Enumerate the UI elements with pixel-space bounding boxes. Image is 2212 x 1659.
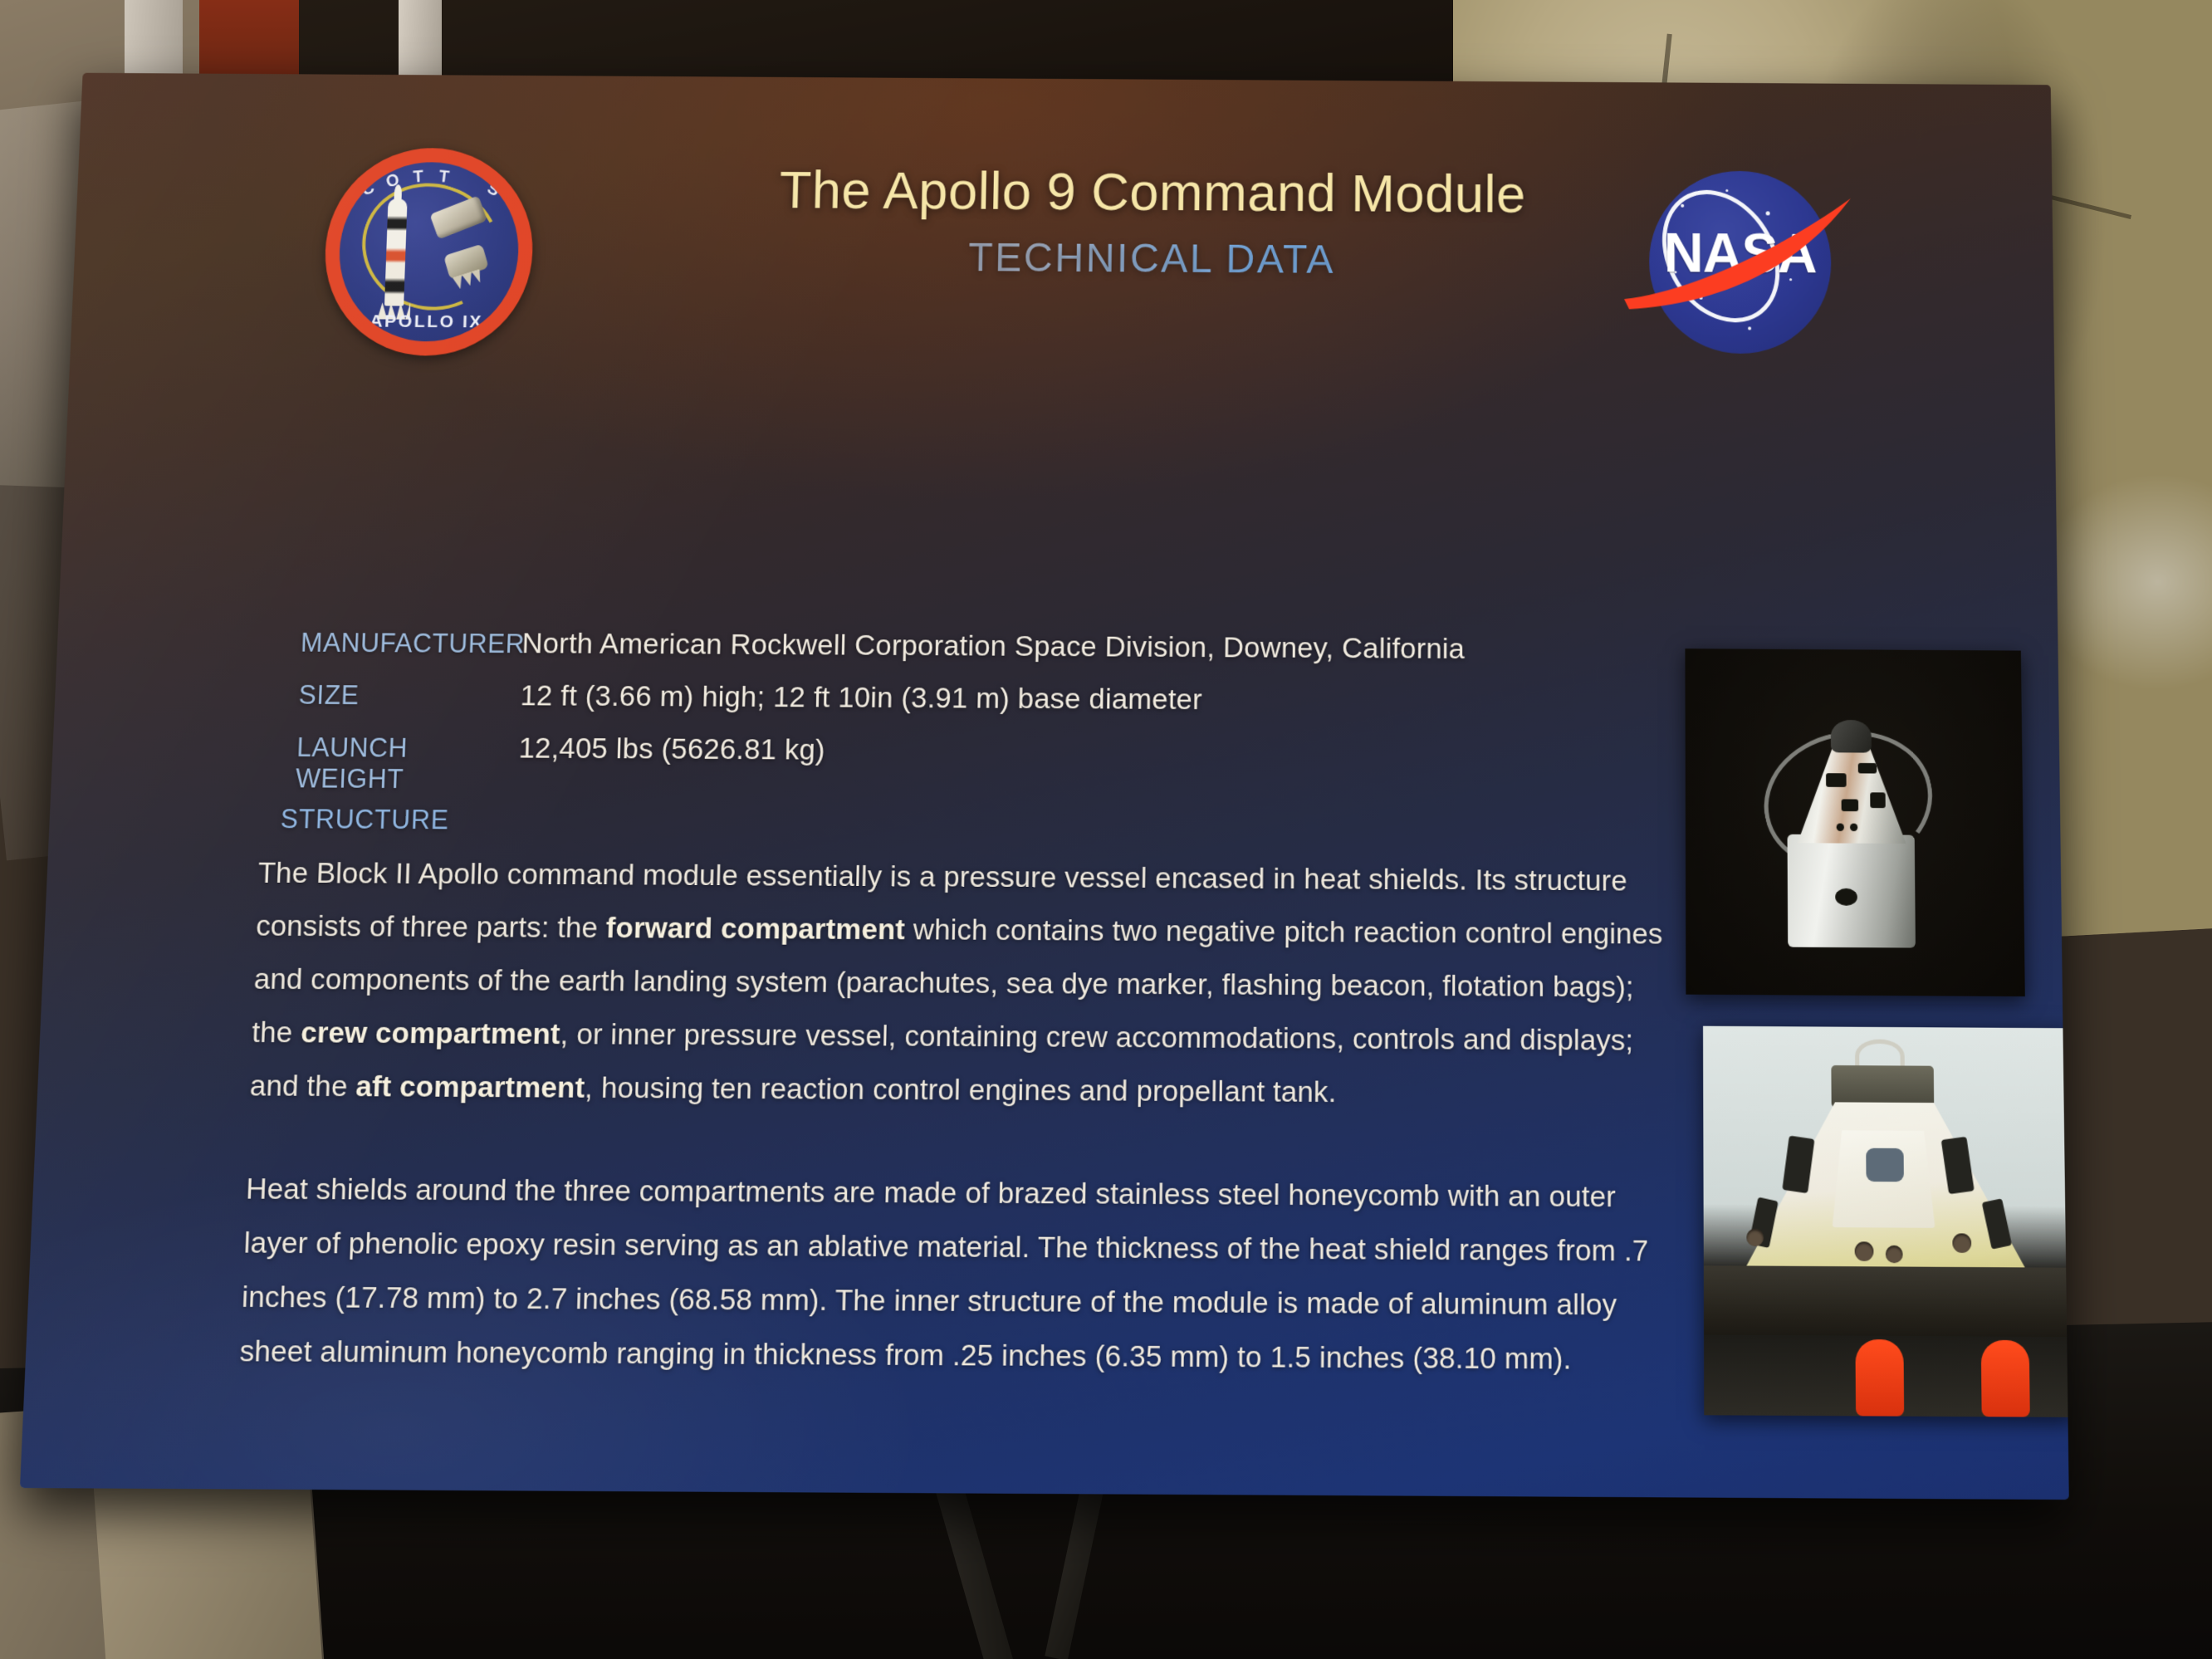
- title-block: The Apollo 9 Command Module TECHNICAL DA…: [709, 159, 1594, 284]
- specifications-list: MANUFACTURER North American Rockwell Cor…: [294, 626, 1652, 821]
- photo-hatch-window: [1866, 1148, 1904, 1182]
- emphasis-aft-compartment: aft compartment: [355, 1069, 585, 1104]
- spec-label-size: SIZE: [298, 680, 521, 712]
- technical-data-placard: McDIVITT SCOTT SCHWEICKART APOLLO IX The…: [20, 73, 2069, 1500]
- photo-thruster-port: [1746, 1229, 1764, 1246]
- placard-header: McDIVITT SCOTT SCHWEICKART APOLLO IX The…: [69, 139, 2055, 403]
- paragraph-heat-shields: Heat shields around the three compartmen…: [238, 1162, 1669, 1387]
- placard-container: McDIVITT SCOTT SCHWEICKART APOLLO IX The…: [46, 73, 2061, 899]
- patch-mission-name: APOLLO IX: [336, 311, 516, 333]
- page-title: The Apollo 9 Command Module: [710, 159, 1593, 225]
- spec-value-manufacturer: North American Rockwell Corporation Spac…: [521, 627, 1465, 666]
- apollo-9-mission-patch-icon: McDIVITT SCOTT SCHWEICKART APOLLO IX: [321, 148, 536, 357]
- structure-heading: STRUCTURE: [280, 804, 449, 836]
- photo-command-service-module-in-orbit: [1685, 648, 2024, 996]
- spec-row: MANUFACTURER North American Rockwell Cor…: [300, 626, 1651, 668]
- spec-value-launch-weight: 12,405 lbs (5626.81 kg): [518, 732, 825, 767]
- photo-thruster-port: [1952, 1233, 1971, 1253]
- emphasis-crew-compartment: crew compartment: [300, 1016, 560, 1051]
- photo-thruster-port: [1855, 1241, 1874, 1261]
- spec-label-manufacturer: MANUFACTURER: [300, 628, 522, 660]
- spec-row: SIZE 12 ft (3.66 m) high; 12 ft 10in (3.…: [298, 678, 1652, 720]
- paragraph-structure: The Block II Apollo command module essen…: [249, 847, 1669, 1122]
- photo-forward-hatch-area: [1831, 1065, 1934, 1108]
- photo-thruster-port: [1886, 1245, 1903, 1263]
- photo-flotation-bag: [1981, 1340, 2030, 1417]
- photo-recovered-command-module: [1703, 1026, 2069, 1417]
- photo-docking-probe: [1831, 720, 1872, 753]
- nasa-logo-icon: NASA: [1627, 149, 1853, 376]
- para1-part4: , housing ten reaction control engines a…: [585, 1071, 1337, 1108]
- structure-body-text: The Block II Apollo command module essen…: [238, 847, 1669, 1387]
- spec-value-size: 12 ft (3.66 m) high; 12 ft 10in (3.91 m)…: [520, 679, 1202, 717]
- nasa-logo-swoosh: [1619, 192, 1862, 319]
- emphasis-forward-compartment: forward compartment: [605, 912, 905, 947]
- page-subtitle: TECHNICAL DATA: [709, 233, 1594, 285]
- photo-service-module: [1788, 834, 1916, 948]
- photo-flotation-bag: [1855, 1339, 1904, 1417]
- spec-label-launch-weight: LAUNCH WEIGHT: [295, 732, 519, 795]
- spec-row: LAUNCH WEIGHT 12,405 lbs (5626.81 kg): [295, 731, 1652, 803]
